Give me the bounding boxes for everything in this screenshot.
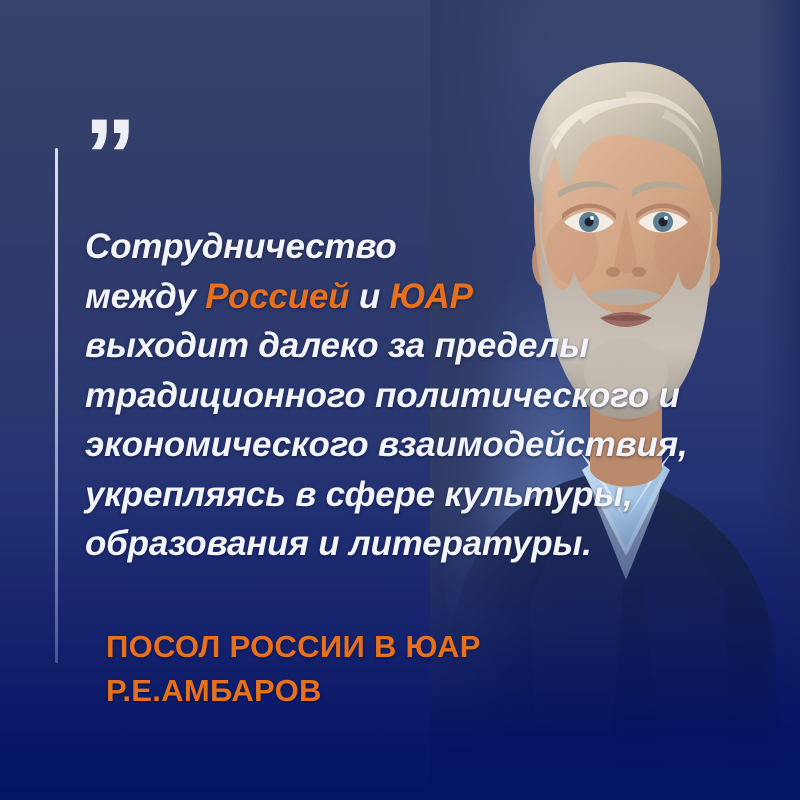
- attribution-name: Р.Е.АМБАРОВ: [106, 669, 626, 713]
- quote-line: Сотрудничество: [85, 222, 725, 272]
- attribution-title: ПОСОЛ РОССИИ В ЮАР: [106, 625, 626, 669]
- quote-segment: Сотрудничество: [85, 227, 397, 266]
- quote-segment: выходит далеко за пределы: [85, 326, 589, 365]
- quote-segment: между: [85, 277, 205, 316]
- quote-card: ” Сотрудничество между Россией и ЮАР вых…: [0, 0, 800, 800]
- vertical-accent-rule: [55, 148, 58, 663]
- quote-line: укрепляясь в сфере культуры,: [85, 470, 725, 520]
- quote-line: выходит далеко за пределы: [85, 321, 725, 371]
- quote-segment: и: [349, 277, 389, 316]
- quote-line: традиционного политического и: [85, 371, 725, 421]
- quote-segment-highlight: Россией: [205, 277, 349, 316]
- quote-line: образования и литературы.: [85, 519, 725, 569]
- quote-text: Сотрудничество между Россией и ЮАР выход…: [85, 222, 725, 569]
- quotation-mark-icon: ”: [84, 104, 139, 209]
- quote-segment: образования и литературы.: [85, 524, 592, 563]
- quote-segment: укрепляясь в сфере культуры,: [85, 475, 633, 514]
- quote-line: экономического взаимодействия,: [85, 420, 725, 470]
- quote-segment: традиционного политического и: [85, 376, 680, 415]
- attribution: ПОСОЛ РОССИИ В ЮАР Р.Е.АМБАРОВ: [106, 625, 626, 713]
- quote-segment-highlight: ЮАР: [390, 277, 473, 316]
- quote-line: между Россией и ЮАР: [85, 272, 725, 322]
- quote-segment: экономического взаимодействия,: [85, 425, 688, 464]
